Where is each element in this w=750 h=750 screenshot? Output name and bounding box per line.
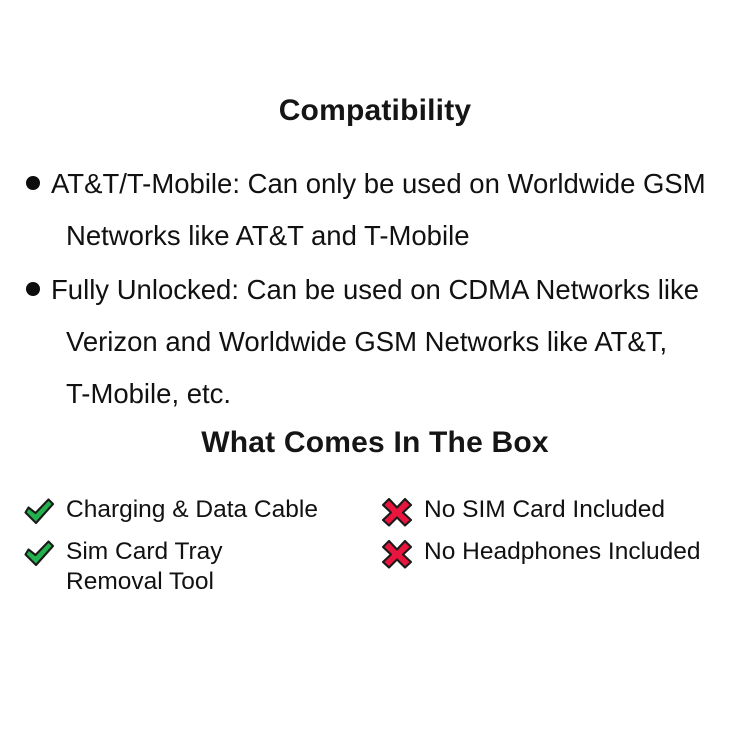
box-contents-heading: What Comes In The Box bbox=[0, 428, 750, 458]
list-item: Charging & Data Cable bbox=[22, 494, 374, 536]
list-item: Sim Card Tray Removal Tool bbox=[22, 536, 374, 597]
compatibility-heading: Compatibility bbox=[0, 96, 750, 126]
box-item-line: Charging & Data Cable bbox=[66, 496, 318, 523]
green-check-icon bbox=[22, 496, 56, 528]
list-item: Fully Unlocked: Can be used on CDMA Netw… bbox=[26, 264, 738, 420]
bullet-line-continued: Networks like AT&T and T-Mobile bbox=[26, 210, 738, 262]
red-cross-icon bbox=[380, 496, 414, 528]
red-cross-icon bbox=[380, 538, 414, 570]
box-item-line: No SIM Card Included bbox=[424, 496, 665, 523]
bullet-line: Fully Unlocked: Can be used on CDMA Netw… bbox=[26, 264, 738, 316]
bullet-text: AT&T/T-Mobile: Can only be used on World… bbox=[51, 168, 706, 199]
box-item-label: No Headphones Included bbox=[424, 536, 701, 567]
bullet-line-continued: Verizon and Worldwide GSM Networks like … bbox=[26, 316, 738, 368]
bullet-line-continued: T-Mobile, etc. bbox=[26, 368, 738, 420]
bullet-text: Fully Unlocked: Can be used on CDMA Netw… bbox=[51, 274, 699, 305]
box-item-label: No SIM Card Included bbox=[424, 494, 665, 525]
box-item-line: Sim Card Tray bbox=[66, 538, 223, 565]
compatibility-bullet-list: AT&T/T-Mobile: Can only be used on World… bbox=[26, 158, 738, 422]
bullet-dot-icon bbox=[26, 176, 40, 190]
bullet-line: AT&T/T-Mobile: Can only be used on World… bbox=[26, 158, 738, 210]
compatibility-infographic: Compatibility AT&T/T-Mobile: Can only be… bbox=[0, 0, 750, 750]
box-item-label: Sim Card Tray Removal Tool bbox=[66, 536, 223, 597]
box-item-line: No Headphones Included bbox=[424, 538, 701, 565]
box-item-label: Charging & Data Cable bbox=[66, 494, 318, 525]
green-check-icon bbox=[22, 538, 56, 570]
bullet-dot-icon bbox=[26, 282, 40, 296]
box-item-line: Removal Tool bbox=[66, 568, 214, 595]
list-item: No Headphones Included bbox=[380, 536, 732, 578]
box-contents-grid: Charging & Data Cable No SIM Card Includ… bbox=[22, 494, 732, 597]
list-item: No SIM Card Included bbox=[380, 494, 732, 536]
list-item: AT&T/T-Mobile: Can only be used on World… bbox=[26, 158, 738, 262]
